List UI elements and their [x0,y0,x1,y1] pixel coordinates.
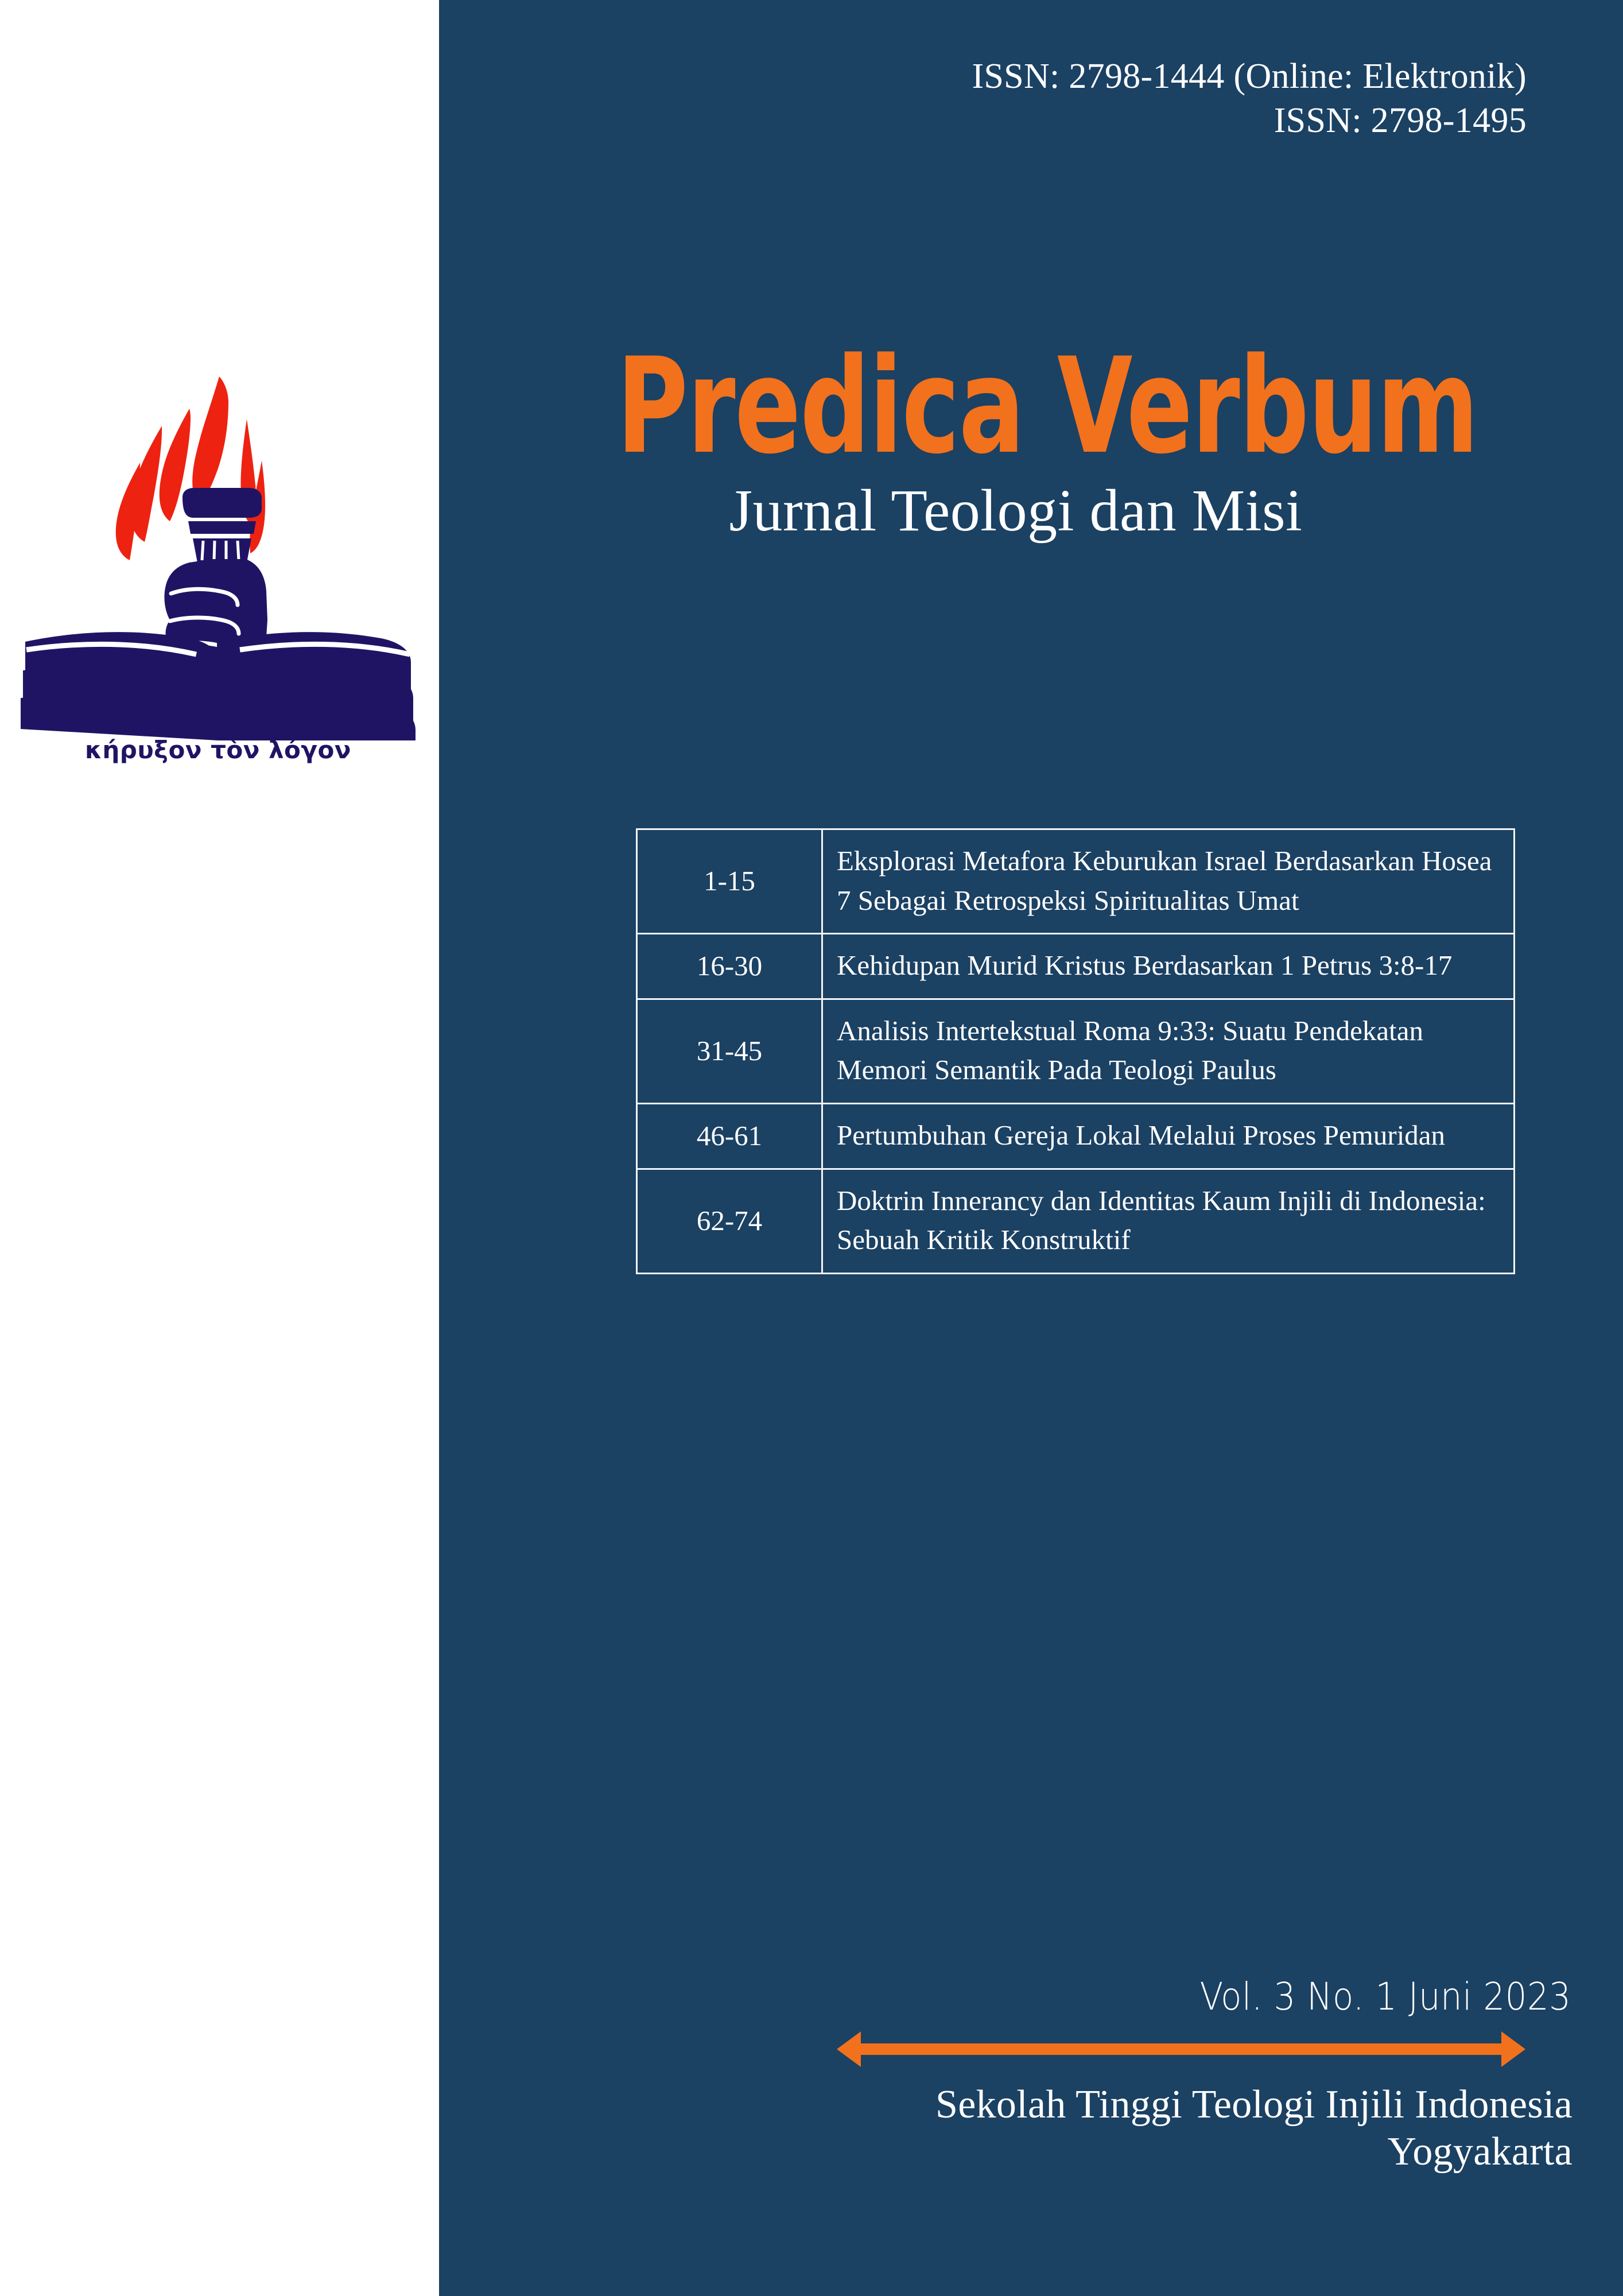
publisher-name: Sekolah Tinggi Teologi Injili Indonesia [792,2081,1572,2128]
publisher-block: Sekolah Tinggi Teologi Injili Indonesia … [792,2081,1578,2175]
table-row: 62-74 Doktrin Innerancy dan Identitas Ka… [637,1169,1515,1273]
toc-pages: 46-61 [637,1103,822,1169]
table-row: 1-15 Eksplorasi Metafora Keburukan Israe… [637,829,1515,934]
masthead: Predica Verbum Jurnal Teologi dan Misi [476,344,1555,544]
toc-pages: 31-45 [637,999,822,1103]
publisher-logo: κήρυξον τὸν λόγον [17,356,419,792]
table-row: 16-30 Kehidupan Murid Kristus Berdasarka… [637,934,1515,999]
toc-title: Analisis Intertekstual Roma 9:33: Suatu … [822,999,1515,1103]
journal-title: Predica Verbum [616,344,1415,470]
toc-title: Eksplorasi Metafora Keburukan Israel Ber… [822,829,1515,934]
volume-issue-line: Vol. 3 No. 1 Juni 2023 [871,1975,1578,2019]
spine-strip [0,0,439,2296]
publisher-city: Yogyakarta [792,2128,1572,2175]
toc-pages: 62-74 [637,1169,822,1273]
toc-title: Pertumbuhan Gereja Lokal Melalui Proses … [822,1103,1515,1169]
issn-block: ISSN: 2798-1444 (Online: Elektronik) ISS… [746,55,1527,143]
toc-title: Doktrin Innerancy dan Identitas Kaum Inj… [822,1169,1515,1273]
issn-online: ISSN: 2798-1444 (Online: Elektronik) [746,55,1527,99]
double-arrow-divider-icon [837,2031,1525,2067]
table-row: 46-61 Pertumbuhan Gereja Lokal Melalui P… [637,1103,1515,1169]
table-row: 31-45 Analisis Intertekstual Roma 9:33: … [637,999,1515,1103]
journal-cover: ISSN: 2798-1444 (Online: Elektronik) ISS… [0,0,1623,2296]
toc-pages: 1-15 [637,829,822,934]
torch-hand-open-book-icon [17,356,419,740]
toc-title: Kehidupan Murid Kristus Berdasarkan 1 Pe… [822,934,1515,999]
issn-print: ISSN: 2798-1495 [746,99,1527,143]
toc-pages: 16-30 [637,934,822,999]
table-of-contents: 1-15 Eksplorasi Metafora Keburukan Israe… [636,828,1515,1274]
journal-subtitle: Jurnal Teologi dan Misi [476,478,1555,544]
cover-footer: Vol. 3 No. 1 Juni 2023 Sekolah Tinggi Te… [792,1975,1578,2175]
